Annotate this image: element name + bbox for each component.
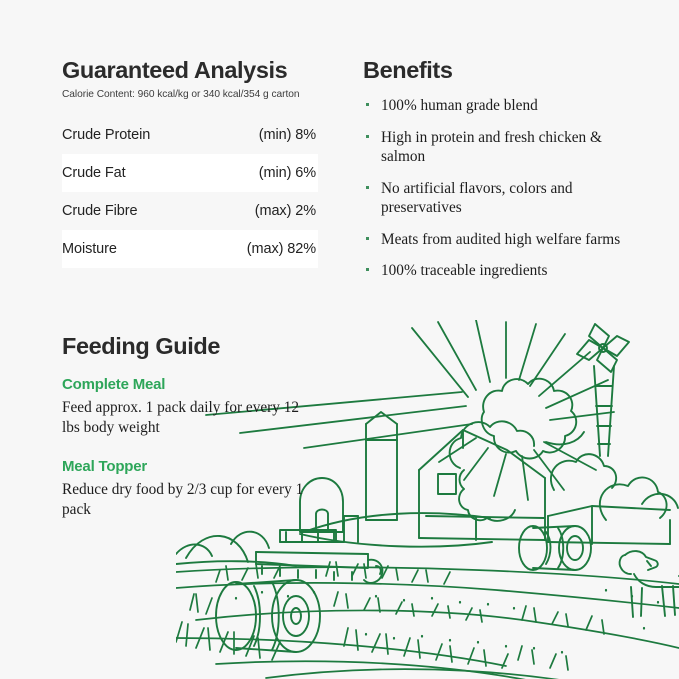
bullet-icon <box>366 237 369 240</box>
benefit-text: High in protein and fresh chicken & salm… <box>381 129 602 166</box>
nutrient-name: Crude Fibre <box>62 203 137 219</box>
windmill-icon <box>577 324 679 456</box>
benefit-text: No artificial flavors, colors and preser… <box>381 180 573 217</box>
bullet-icon <box>366 186 369 189</box>
nutrient-name: Crude Protein <box>62 127 150 143</box>
feeding-guide-title: Feeding Guide <box>62 332 312 360</box>
list-item: High in protein and fresh chicken & salm… <box>363 128 623 167</box>
bullet-icon <box>366 135 369 138</box>
nutrient-value: (max) 2% <box>255 203 316 219</box>
complete-meal-text: Feed approx. 1 pack daily for every 12 l… <box>62 398 312 437</box>
list-item: 100% traceable ingredients <box>363 261 623 281</box>
benefits-list: 100% human grade blend High in protein a… <box>363 96 623 281</box>
table-row: Crude Fat (min) 6% <box>62 154 318 192</box>
product-info-panel: Guaranteed Analysis Calorie Content: 960… <box>0 0 679 679</box>
field-lines-icon <box>176 567 679 679</box>
guaranteed-analysis-title: Guaranteed Analysis <box>62 56 334 84</box>
nutrient-value: (min) 8% <box>259 127 316 143</box>
silo-icon <box>366 412 397 520</box>
benefits-section: Benefits 100% human grade blend High in … <box>363 56 623 293</box>
bullet-icon <box>366 103 369 106</box>
meal-topper-text: Reduce dry food by 2/3 cup for every 1 p… <box>62 480 312 519</box>
calorie-content-text: Calorie Content: 960 kcal/kg or 340 kcal… <box>62 89 334 100</box>
nutrient-value: (max) 82% <box>247 241 316 257</box>
table-row: Crude Fibre (max) 2% <box>62 192 318 230</box>
list-item: No artificial flavors, colors and preser… <box>363 179 623 218</box>
list-item: Meats from audited high welfare farms <box>363 230 623 250</box>
list-item: 100% human grade blend <box>363 96 623 116</box>
bullet-icon <box>366 268 369 271</box>
distant-trees-icon <box>176 532 296 566</box>
nutrient-value: (min) 6% <box>259 165 316 181</box>
benefits-title: Benefits <box>363 56 623 84</box>
guaranteed-analysis-table: Crude Protein (min) 8% Crude Fat (min) 6… <box>62 116 318 268</box>
meal-topper-heading: Meal Topper <box>62 458 312 475</box>
shed-icon <box>548 506 670 544</box>
guaranteed-analysis-section: Guaranteed Analysis Calorie Content: 960… <box>62 56 334 268</box>
benefit-text: Meats from audited high welfare farms <box>381 231 620 248</box>
hay-bale-icon <box>519 526 591 570</box>
benefit-text: 100% traceable ingredients <box>381 262 548 279</box>
nutrient-name: Crude Fat <box>62 165 126 181</box>
table-row: Moisture (max) 82% <box>62 230 318 268</box>
complete-meal-heading: Complete Meal <box>62 376 312 393</box>
nutrient-name: Moisture <box>62 241 117 257</box>
table-row: Crude Protein (min) 8% <box>62 116 318 154</box>
feeding-guide-section: Feeding Guide Complete Meal Feed approx.… <box>62 332 312 519</box>
benefit-text: 100% human grade blend <box>381 97 538 114</box>
